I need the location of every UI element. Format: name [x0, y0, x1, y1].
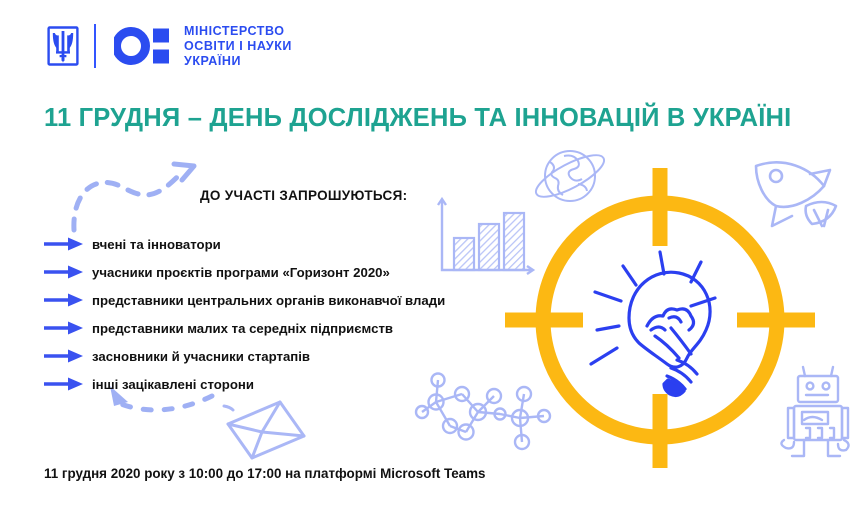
list-item-label: представники малих та середніх підприємс…: [92, 321, 393, 336]
robot-icon: [778, 362, 858, 466]
arrow-right-icon: [44, 293, 84, 307]
list-item: інші зацікавлені сторони: [44, 371, 514, 397]
ministry-logo: МІНІСТЕРСТВО ОСВІТИ І НАУКИ УКРАЇНИ: [46, 22, 292, 70]
lightbulb-icon: [591, 252, 715, 395]
target-crosshair-icon: [505, 168, 815, 468]
logo-divider: [94, 24, 96, 68]
arrow-right-icon: [44, 321, 84, 335]
arrow-right-icon: [44, 349, 84, 363]
envelope-icon: [218, 396, 314, 464]
list-item: учасники проєктів програми «Горизонт 202…: [44, 259, 514, 285]
ministry-line-1: МІНІСТЕРСТВО: [184, 24, 292, 39]
mon-o-mark: [114, 25, 170, 67]
arrow-right-icon: [44, 237, 84, 251]
ministry-name: МІНІСТЕРСТВО ОСВІТИ І НАУКИ УКРАЇНИ: [184, 24, 292, 69]
arrow-right-icon: [44, 377, 84, 391]
arrow-right-icon: [44, 265, 84, 279]
rocket-icon: [752, 152, 852, 240]
list-item: засновники й учасники стартапів: [44, 343, 514, 369]
list-item: представники малих та середніх підприємс…: [44, 315, 514, 341]
invite-heading: ДО УЧАСТІ ЗАПРОШУЮТЬСЯ:: [200, 188, 407, 203]
list-item-label: учасники проєктів програми «Горизонт 202…: [92, 265, 390, 280]
list-item: представники центральних органів виконав…: [44, 287, 514, 313]
ministry-line-2: ОСВІТИ І НАУКИ: [184, 39, 292, 54]
dashed-arrow-icon: [62, 158, 202, 240]
list-item-label: представники центральних органів виконав…: [92, 293, 445, 308]
ministry-line-3: УКРАЇНИ: [184, 54, 292, 69]
list-item-label: вчені та інноватори: [92, 237, 221, 252]
ukraine-trident-emblem: [46, 22, 80, 70]
list-item-label: засновники й учасники стартапів: [92, 349, 310, 364]
event-poster: МІНІСТЕРСТВО ОСВІТИ І НАУКИ УКРАЇНИ: [0, 0, 860, 525]
page-title: 11 ГРУДНЯ – ДЕНЬ ДОСЛІДЖЕНЬ ТА ІННОВАЦІЙ…: [44, 104, 791, 133]
globe-orbit-icon: [526, 144, 612, 214]
list-item: вчені та інноватори: [44, 231, 514, 257]
participants-list: вчені та інноватори учасники проєктів пр…: [44, 231, 514, 399]
event-details: 11 грудня 2020 року з 10:00 до 17:00 на …: [44, 466, 485, 481]
list-item-label: інші зацікавлені сторони: [92, 377, 254, 392]
